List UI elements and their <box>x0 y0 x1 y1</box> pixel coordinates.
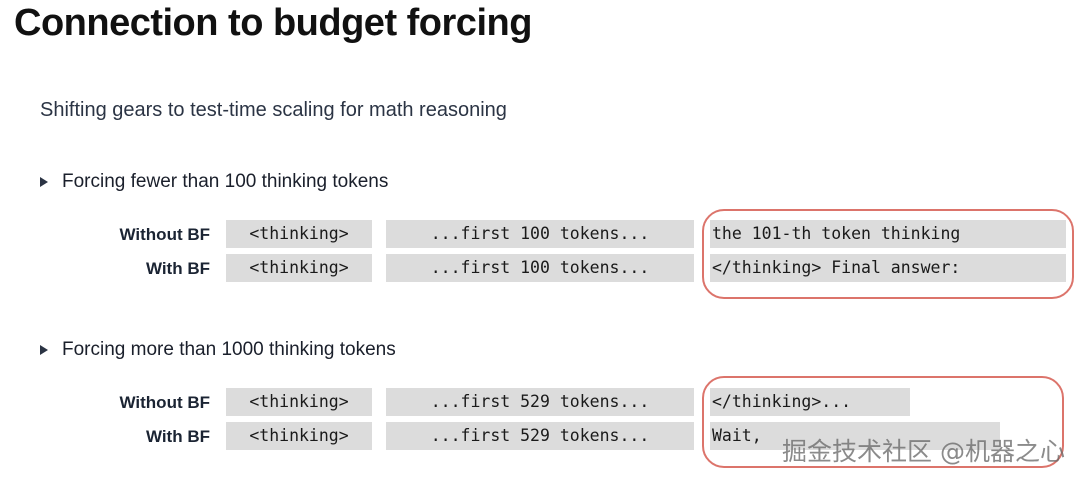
code-chunk-tail-1a: the 101-th token thinking <box>710 220 1066 248</box>
bullet-heading-2: Forcing more than 1000 thinking tokens <box>40 339 396 361</box>
bullet-heading-2-label: Forcing more than 1000 thinking tokens <box>62 339 396 361</box>
slide-canvas: Connection to budget forcing Shifting ge… <box>0 0 1080 480</box>
bullet-heading-1-label: Forcing fewer than 100 thinking tokens <box>62 171 388 193</box>
code-row-with-bf-1: With BF <thinking> ...first 100 tokens..… <box>0 254 1080 288</box>
code-row-without-bf-1: Without BF <thinking> ...first 100 token… <box>0 220 1080 254</box>
triangle-right-icon <box>40 345 48 355</box>
bullet-heading-1: Forcing fewer than 100 thinking tokens <box>40 171 388 193</box>
code-chunk-middle-2a: ...first 529 tokens... <box>386 388 694 416</box>
code-chunk-tag-1b: <thinking> <box>226 254 372 282</box>
page-title: Connection to budget forcing <box>14 2 532 45</box>
code-group-2: Without BF <thinking> ...first 529 token… <box>0 388 1080 456</box>
row-label-with-bf-1: With BF <box>0 259 210 279</box>
code-chunk-middle-1a: ...first 100 tokens... <box>386 220 694 248</box>
code-chunk-middle-1b: ...first 100 tokens... <box>386 254 694 282</box>
code-chunk-middle-2b: ...first 529 tokens... <box>386 422 694 450</box>
row-label-without-bf-1: Without BF <box>0 225 210 245</box>
row-label-with-bf-2: With BF <box>0 427 210 447</box>
code-chunk-tag-1a: <thinking> <box>226 220 372 248</box>
row-label-without-bf-2: Without BF <box>0 393 210 413</box>
code-group-1: Without BF <thinking> ...first 100 token… <box>0 220 1080 288</box>
triangle-right-icon <box>40 177 48 187</box>
code-chunk-tail-2b: Wait, <box>710 422 1000 450</box>
code-chunk-tail-1b: </thinking> Final answer: <box>710 254 1066 282</box>
code-chunk-tag-2a: <thinking> <box>226 388 372 416</box>
code-chunk-tail-2a: </thinking>... <box>710 388 910 416</box>
code-chunk-tag-2b: <thinking> <box>226 422 372 450</box>
code-row-with-bf-2: With BF <thinking> ...first 529 tokens..… <box>0 422 1080 456</box>
code-row-without-bf-2: Without BF <thinking> ...first 529 token… <box>0 388 1080 422</box>
page-subtitle: Shifting gears to test-time scaling for … <box>40 99 507 122</box>
